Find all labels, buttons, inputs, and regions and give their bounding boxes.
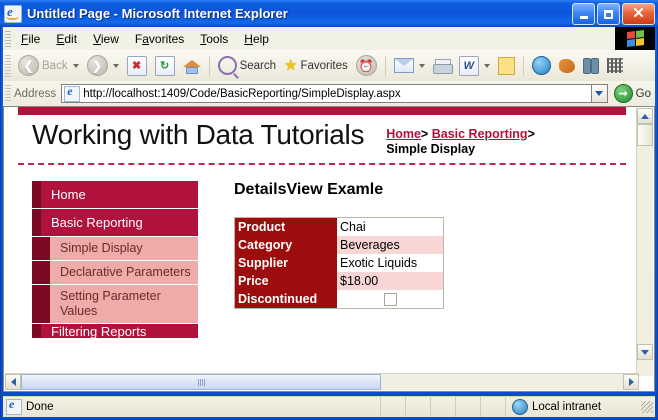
address-dropdown-button[interactable] [591,84,608,103]
menu-favorites[interactable]: Favorites [127,30,192,48]
page-header: Working with Data Tutorials Home> Basic … [18,115,626,161]
row-value: Chai [337,218,444,237]
note-icon [498,57,515,75]
toolbar-separator-2 [385,56,386,76]
menu-file-label: ile [28,32,40,46]
sidebar-item-home[interactable]: Home [32,181,198,208]
menu-bar: File Edit View Favorites Tools Help [3,27,655,51]
content-heading: DetailsView Examle [234,181,484,199]
status-text: Done [26,401,54,413]
home-icon [183,58,201,74]
row-label: Discontinued [235,290,338,309]
security-zone-panel[interactable]: Local intranet [506,397,641,417]
chevron-down-icon [595,91,603,96]
search-icon [218,56,237,75]
history-icon: ⏰ [356,55,377,76]
toolbar-grip-handle[interactable] [5,55,11,77]
sidebar-stripe [32,261,50,284]
detailsview-table: Product Chai Category Beverages Supplier… [234,217,444,309]
address-bar: Address http://localhost:1409/Code/Basic… [3,81,655,107]
sidebar-stripe [32,237,50,260]
main-content: DetailsView Examle Product Chai Category… [234,181,484,309]
standard-toolbar: ❮ Back ❯ ✖ ↻ Search ★ Favorites ⏰ [3,50,655,82]
sidebar-item-setting-parameter-values[interactable]: Setting Parameter Values [32,285,198,323]
menu-help[interactable]: Help [236,30,277,48]
mail-icon [394,58,414,73]
breadcrumb-link-basic-reporting[interactable]: Basic Reporting [432,127,528,141]
edit-dropdown-icon[interactable] [484,64,490,68]
sidebar-item-label: Home [41,181,198,208]
address-label: Address [14,88,56,100]
status-bar: Done Local intranet [3,396,655,417]
menu-view[interactable]: View [85,30,127,48]
row-label: Price [235,272,338,290]
row-value: Beverages [337,236,444,254]
sidebar-stripe [32,209,41,236]
favorites-icon: ★ [284,58,297,73]
discuss-globe-icon [532,56,551,75]
status-cell-3 [431,397,456,417]
web-page-content: Working with Data Tutorials Home> Basic … [4,107,638,375]
table-row: Supplier Exotic Liquids [235,254,444,272]
windows-brand-box [615,27,655,50]
window-controls: ✕ [572,3,655,25]
go-icon: ➞ [614,84,633,103]
stop-icon: ✖ [127,56,147,76]
status-cell-5 [481,397,506,417]
vertical-scroll-thumb[interactable] [637,124,653,146]
notes-button[interactable] [494,56,519,76]
header-divider [18,163,626,165]
table-row: Category Beverages [235,236,444,254]
horizontal-scrollbar[interactable] [5,373,639,390]
breadcrumb-link-home[interactable]: Home [386,127,421,141]
misc-toolbar-button[interactable] [603,57,627,74]
status-cell-4 [456,397,481,417]
row-label: Category [235,236,338,254]
forward-button[interactable]: ❯ [83,54,123,77]
sidebar-item-simple-display[interactable]: Simple Display [32,237,198,260]
messenger-button[interactable] [555,58,579,74]
resize-grip-icon[interactable] [641,401,653,413]
print-button[interactable] [429,58,455,74]
refresh-button[interactable]: ↻ [151,55,179,77]
close-button[interactable]: ✕ [622,3,655,25]
table-row: Price $18.00 [235,272,444,290]
mail-button[interactable] [390,57,429,74]
thumb-grip-icon [198,379,205,386]
scroll-left-button[interactable] [5,374,21,390]
research-icon [583,58,599,73]
forward-dropdown-icon[interactable] [113,64,119,68]
horizontal-scroll-thumb[interactable] [21,374,381,390]
word-icon: W [459,56,479,76]
favorites-label: Favorites [300,60,347,72]
toolbar-separator [209,56,210,76]
address-grip-handle[interactable] [5,85,11,103]
ie-page-icon [4,5,22,23]
status-message-panel: Done [3,397,381,417]
sidebar-item-filtering-reports[interactable]: Filtering Reports [32,324,198,338]
toolbar-separator-3 [523,56,524,76]
row-value: $18.00 [337,272,444,290]
breadcrumb-current: Simple Display [386,142,475,156]
row-label: Supplier [235,254,338,272]
back-icon: ❮ [18,55,39,76]
detailsview-body: Product Chai Category Beverages Supplier… [235,218,444,309]
sidebar-item-label: Basic Reporting [41,209,198,236]
mail-dropdown-icon[interactable] [419,64,425,68]
sidebar-item-declarative-parameters[interactable]: Declarative Parameters [32,261,198,284]
ie-browser-window: Untitled Page - Microsoft Internet Explo… [0,0,658,420]
discuss-button[interactable] [528,55,555,76]
maximize-button[interactable] [597,3,620,25]
sidebar-nav: Home Basic Reporting Simple Display Decl… [32,181,198,339]
sidebar-stripe [32,181,41,208]
table-row: Discontinued [235,290,444,309]
back-dropdown-icon[interactable] [73,64,79,68]
row-label: Product [235,218,338,237]
maximize-icon [604,10,613,19]
research-button[interactable] [579,57,603,74]
sidebar-stripe [32,285,50,323]
back-label: Back [42,60,68,72]
status-cell-2 [406,397,431,417]
vertical-scrollbar[interactable] [636,108,653,376]
security-zone-label: Local intranet [532,401,601,413]
window-title: Untitled Page - Microsoft Internet Explo… [27,6,288,21]
address-input[interactable]: http://localhost:1409/Code/BasicReportin… [61,84,590,103]
title-bar: Untitled Page - Microsoft Internet Explo… [0,0,658,27]
windows-flag-icon [627,30,644,47]
breadcrumb-separator-1: > [421,127,428,141]
breadcrumb-separator-2: > [528,127,535,141]
scroll-right-button[interactable] [623,374,639,390]
row-value [337,290,444,309]
menu-grip-handle[interactable] [5,31,11,47]
stop-button[interactable]: ✖ [123,55,151,77]
sidebar-item-label: Declarative Parameters [50,261,198,284]
table-row: Product Chai [235,218,444,237]
close-icon: ✕ [632,6,645,21]
discontinued-checkbox[interactable] [384,293,397,306]
sidebar-item-label: Filtering Reports [41,324,198,338]
address-url-text: http://localhost:1409/Code/BasicReportin… [83,88,401,100]
sidebar-stripe [32,324,41,338]
favorites-button[interactable]: ★ Favorites [280,57,352,74]
status-page-icon [6,399,22,415]
menu-file[interactable]: File [13,30,48,48]
forward-icon: ❯ [87,55,108,76]
sidebar-item-label: Simple Display [50,237,198,260]
edit-word-button[interactable]: W [455,55,494,77]
sidebar-item-basic-reporting[interactable]: Basic Reporting [32,209,198,236]
refresh-icon: ↻ [155,56,175,76]
minimize-button[interactable] [572,3,595,25]
row-value: Exotic Liquids [337,254,444,272]
misc-icon [607,58,623,73]
history-button[interactable]: ⏰ [352,54,381,77]
sidebar-item-label: Setting Parameter Values [50,285,198,323]
back-button[interactable]: ❮ Back [14,54,83,77]
page-viewport: Working with Data Tutorials Home> Basic … [3,106,655,392]
search-button[interactable]: Search [214,55,280,76]
menu-tools[interactable]: Tools [192,30,236,48]
status-cell-1 [381,397,406,417]
menu-edit[interactable]: Edit [48,30,85,48]
search-label: Search [240,60,276,72]
page-title: Working with Data Tutorials [32,119,364,151]
scroll-down-button[interactable] [637,344,653,360]
scroll-up-button[interactable] [637,108,653,124]
fox-icon [559,59,575,73]
intranet-zone-icon [512,399,528,415]
go-label: Go [636,88,651,100]
breadcrumb: Home> Basic Reporting> Simple Display [386,127,596,157]
page-top-band [18,107,626,115]
print-icon [433,59,451,73]
go-button[interactable]: ➞ Go [614,84,651,103]
page-icon [64,86,80,102]
home-button[interactable] [179,57,205,75]
minimize-icon [580,16,588,19]
